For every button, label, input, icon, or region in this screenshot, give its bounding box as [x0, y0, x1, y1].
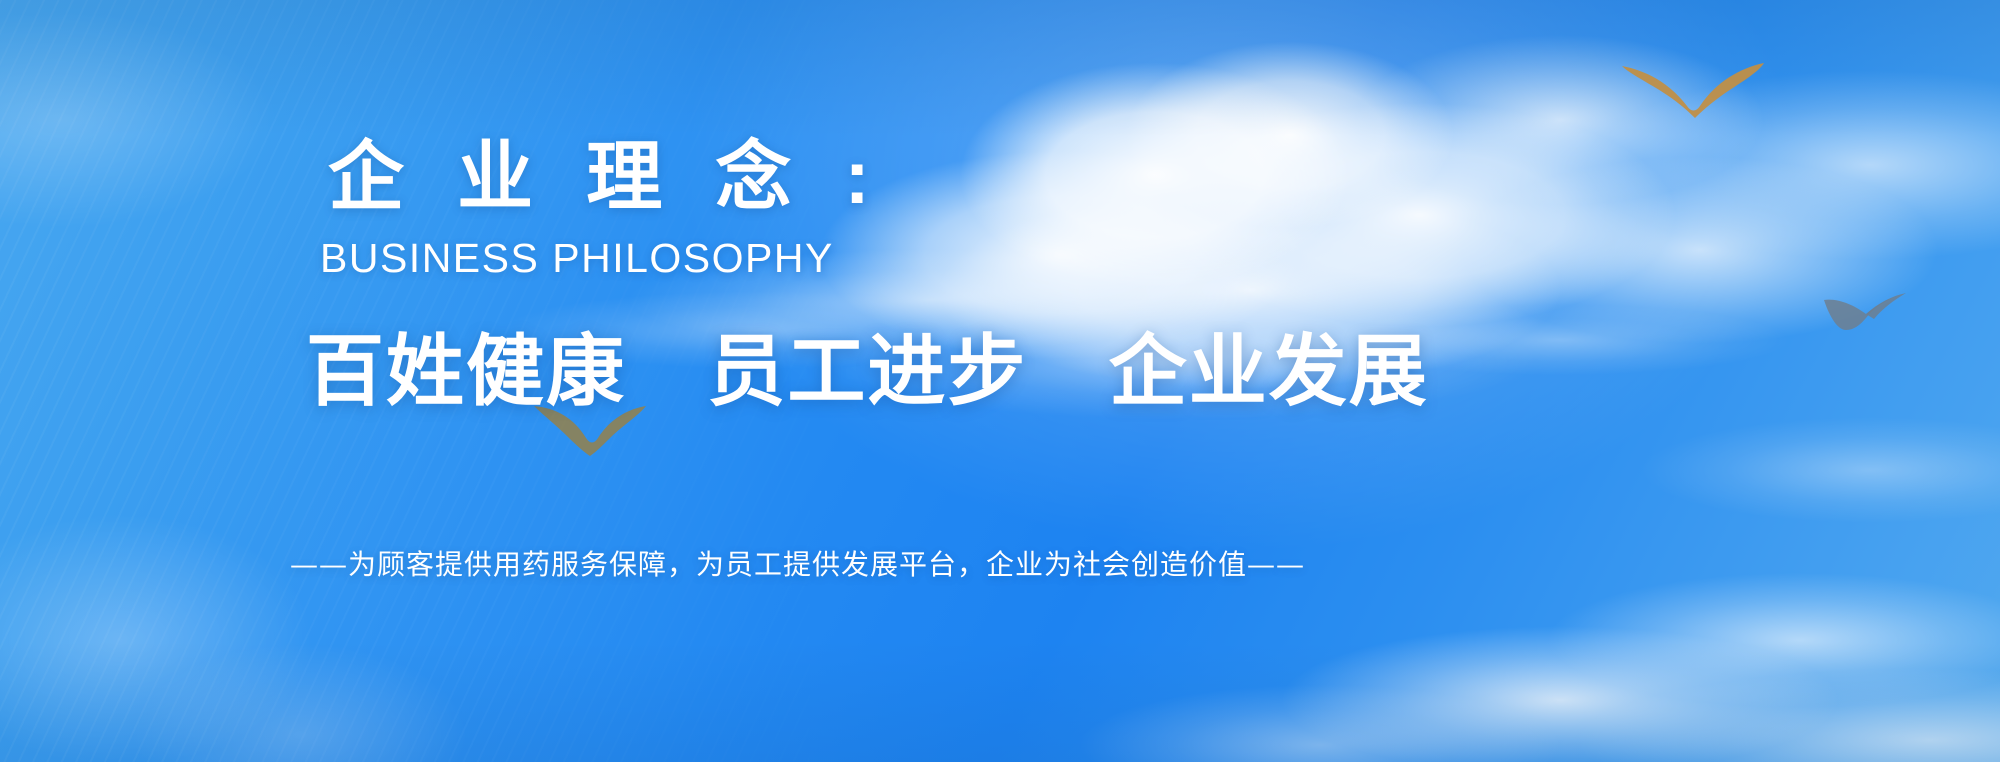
slogan-part-3: 企业发展 [1109, 327, 1429, 415]
business-philosophy-banner: 企 业 理 念 : BUSINESS PHILOSOPHY 百姓健康 员工进步 … [0, 0, 2000, 762]
banner-text-content: 企 业 理 念 : BUSINESS PHILOSOPHY 百姓健康 员工进步 … [0, 0, 1560, 762]
page-title-en: BUSINESS PHILOSOPHY [320, 238, 834, 279]
slogan-part-1: 百姓健康 [306, 327, 626, 415]
bird-icon-top-right [1618, 32, 1768, 120]
page-title-cn: 企 业 理 念 : [328, 140, 886, 216]
slogan-part-2: 员工进步 [707, 327, 1027, 415]
bird-icon-mid-right [1822, 272, 1962, 360]
slogan-text: 百姓健康 员工进步 企业发展 [306, 332, 1429, 410]
caption-text: ——为顾客提供用药服务保障，为员工提供发展平台，企业为社会创造价值—— [290, 548, 1290, 582]
